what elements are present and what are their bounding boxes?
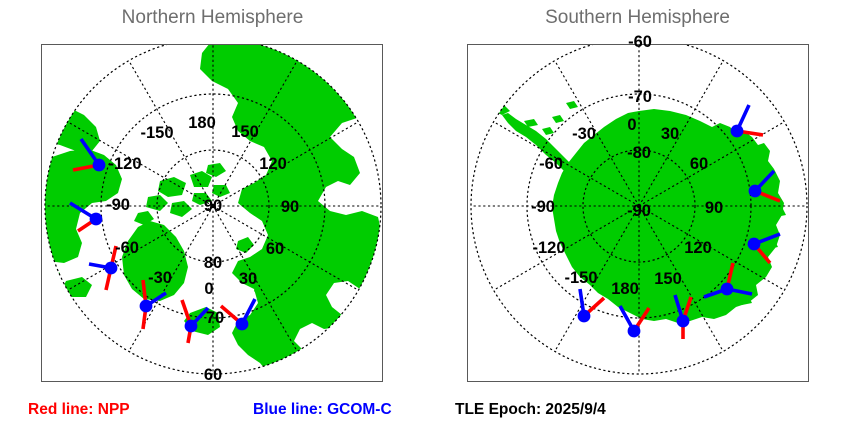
lat-label-south: -70 [628,89,652,106]
lon-label-north: 90 [281,199,299,216]
plot-frame-north: 90 80 70 60 0 30 60 90 120 150 180 -150 … [41,44,383,382]
lat-label-north: 80 [204,255,222,272]
lon-label-south: -90 [531,199,555,216]
lon-label-south: 150 [654,271,682,288]
lat-label-north: 60 [204,367,222,384]
panel-southern-hemisphere: Southern Hemisphere [425,0,850,425]
lon-label-south: 90 [705,200,723,217]
lon-label-south: 60 [690,156,708,173]
panel-title-north: Northern Hemisphere [0,7,425,29]
lon-label-north: 180 [188,115,216,132]
lon-label-north: 120 [259,156,287,173]
lon-label-north: -150 [140,125,173,142]
lon-label-south: -60 [539,156,563,173]
lon-label-south: 0 [627,117,636,134]
lon-label-south: 30 [661,126,679,143]
lat-label-south: -80 [627,145,651,162]
lon-label-south: -30 [572,126,596,143]
panel-northern-hemisphere: Northern Hemisphere [0,0,425,425]
lat-label-north: 90 [204,198,222,215]
legend-red-line-npp: Red line: NPP [28,402,130,418]
lon-label-north: 60 [266,241,284,258]
panel-title-south: Southern Hemisphere [425,7,850,29]
lon-label-north: 30 [239,271,257,288]
lat-label-south: -60 [628,34,652,51]
lon-label-south: 180 [611,281,639,298]
legend-tle-epoch: TLE Epoch: 2025/9/4 [455,402,606,418]
lon-label-north: -90 [106,197,130,214]
lat-label-south: -90 [627,203,651,220]
legend-blue-line-gcomc: Blue line: GCOM-C [253,402,392,418]
lat-label-north: 70 [206,310,224,327]
plot-frame-south: -90 -80 -70 -60 0 30 60 90 120 150 180 -… [467,44,809,382]
lon-label-south: 120 [684,240,712,257]
lon-label-south: -150 [564,270,597,287]
lon-label-north: -30 [148,270,172,287]
lon-label-north: -120 [108,156,141,173]
lon-label-north: 0 [204,281,213,298]
lon-label-south: -120 [532,240,565,257]
lon-label-north: 150 [231,124,259,141]
lon-label-north: -60 [115,240,139,257]
